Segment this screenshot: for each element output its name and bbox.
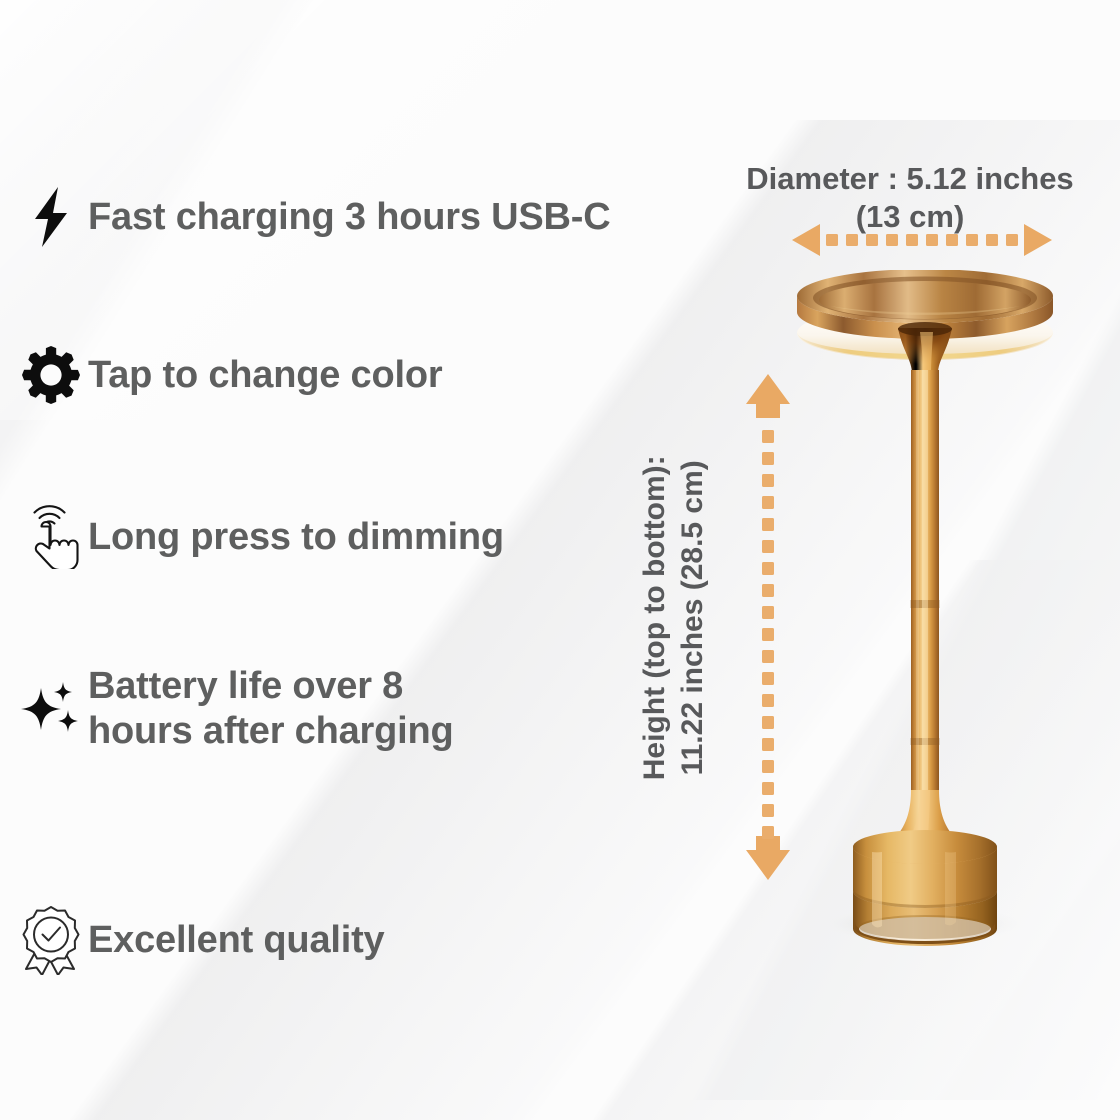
height-label-line2: 11.22 inches (28.5 cm) — [674, 388, 712, 848]
gear-icon — [14, 346, 88, 404]
product-image-table-lamp — [760, 270, 1090, 950]
feature-item-tap-color: Tap to change color — [14, 346, 442, 404]
height-label: Height (top to bottom): 11.22 inches (28… — [636, 388, 712, 848]
feature-item-long-press: Long press to dimming — [14, 505, 504, 569]
tap-gesture-icon — [14, 505, 88, 569]
feature-item-fast-charging: Fast charging 3 hours USB-C — [14, 186, 610, 248]
feature-label: Battery life over 8 hours after charging — [88, 664, 454, 754]
feature-label: Fast charging 3 hours USB-C — [88, 195, 610, 240]
quality-badge-icon — [14, 905, 88, 975]
feature-list: Fast charging 3 hours USB-C Tap to chang… — [0, 0, 700, 1120]
lightning-bolt-icon — [14, 186, 88, 248]
feature-item-battery-life: Battery life over 8 hours after charging — [14, 664, 454, 754]
sparkle-icon — [14, 678, 88, 740]
diameter-label-line1: Diameter : 5.12 inches — [700, 160, 1120, 198]
feature-label: Long press to dimming — [88, 515, 504, 560]
feature-item-excellent-quality: Excellent quality — [14, 905, 384, 975]
feature-label: Excellent quality — [88, 918, 384, 963]
infographic-canvas: Fast charging 3 hours USB-C Tap to chang… — [0, 0, 1120, 1120]
feature-label: Tap to change color — [88, 353, 442, 398]
diameter-double-arrow-icon — [792, 222, 1052, 258]
height-label-line1: Height (top to bottom): — [636, 388, 674, 848]
